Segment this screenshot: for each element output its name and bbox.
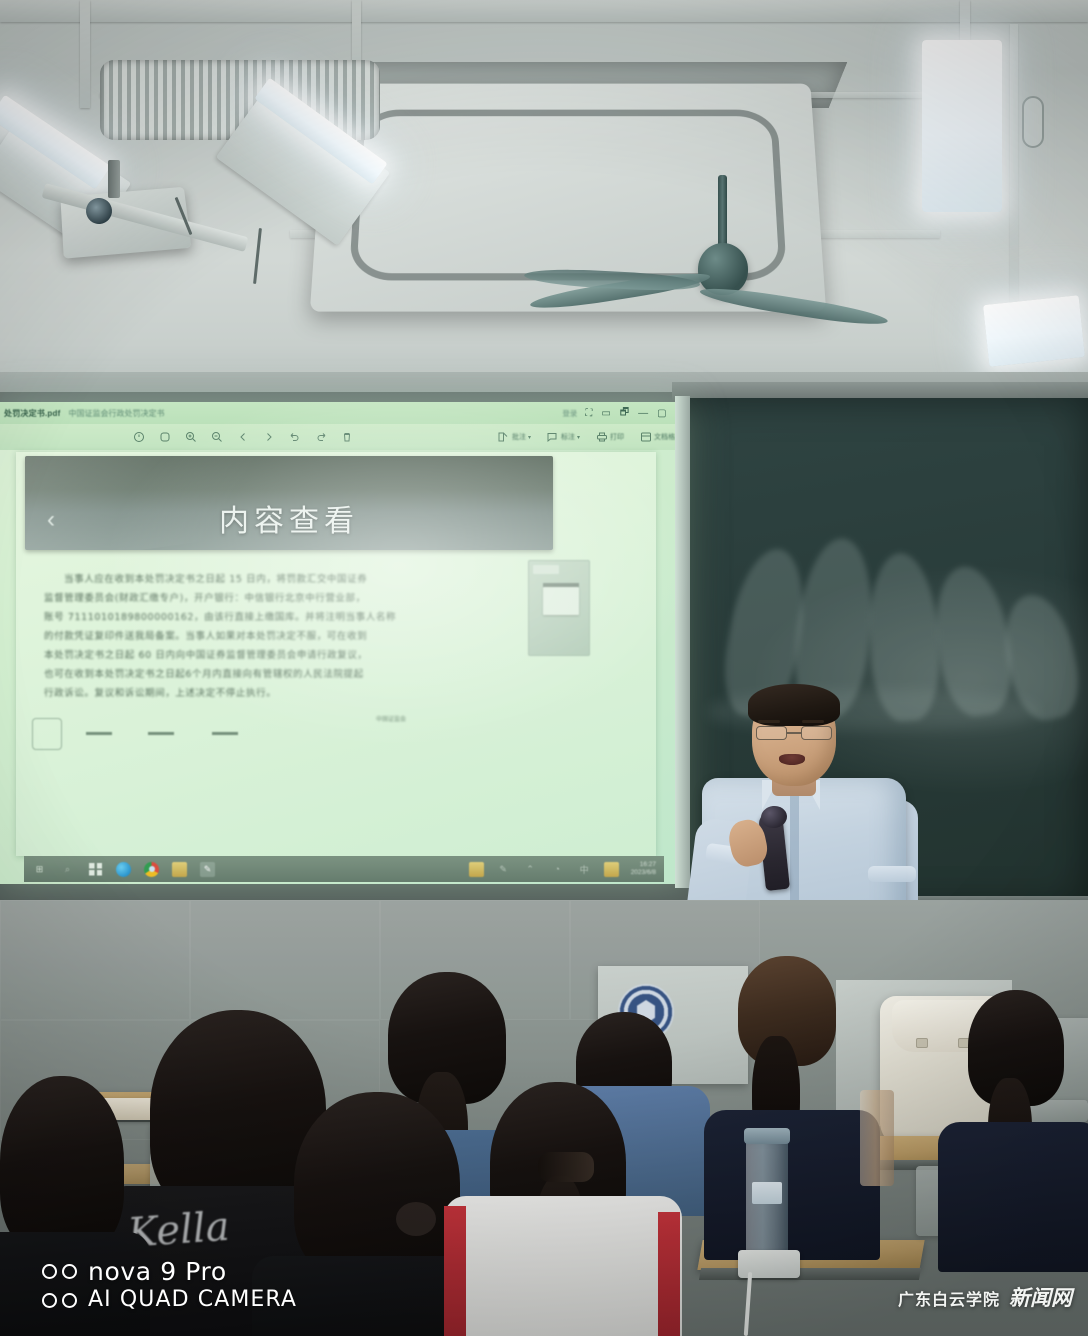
hand-tool-icon[interactable] (158, 431, 171, 444)
layout-icon[interactable]: ▭ (601, 408, 610, 419)
print-button[interactable]: 打印 (595, 431, 624, 444)
print-label: 打印 (610, 432, 624, 442)
pdf-tab-alt-title[interactable]: 中国证监会行政处罚决定书 (68, 408, 164, 419)
pdf-tool-group-left (132, 431, 353, 444)
system-tray: ✎ ⌃ ◔ 中 16:27 2023/6/8 (469, 861, 656, 877)
window-controls[interactable]: ⛶ ▭ 🗗 — ▢ ✕ (585, 405, 684, 422)
student-torso (704, 1110, 880, 1260)
jacket-stripe (658, 1212, 680, 1336)
clock-time: 16:27 (631, 861, 656, 869)
ceiling-fan-motor (698, 243, 748, 295)
camera-quad-dots-icon (42, 1264, 77, 1279)
pdf-app-titlebar: 处罚决定书.pdf 中国证监会行政处罚决定书 登录 ⛶ ▭ 🗗 — ▢ ✕ (0, 402, 688, 424)
zoom-in-icon[interactable] (184, 431, 197, 444)
minimize-icon[interactable]: — (638, 408, 648, 419)
fullscreen-icon[interactable]: ⛶ (585, 408, 592, 419)
fan-rod (718, 175, 727, 249)
edge-browser-icon[interactable] (116, 862, 131, 877)
rotate-left-icon[interactable] (288, 431, 301, 444)
bottle-sticker (752, 1182, 782, 1204)
doc-line: 行政诉讼。复议和诉讼期间，上述决定不停止执行。 (44, 684, 482, 703)
pdf-tool-group-right: 批注 ▾ 标注 ▾ 打印 (497, 431, 682, 444)
printer-icon (595, 431, 608, 444)
speaker-mouth (779, 754, 805, 765)
start-button-icon[interactable]: ⊞ (32, 862, 47, 877)
camera-quad-dots-icon-2 (42, 1293, 77, 1308)
previous-page-icon[interactable] (236, 431, 249, 444)
pdf-reader-icon[interactable]: ✎ (200, 862, 215, 877)
tray-volume-icon[interactable]: ◔ (550, 862, 565, 877)
screen-right-edge (675, 396, 690, 888)
jacket-stripe (444, 1206, 466, 1336)
phone-outline-mockup (32, 718, 62, 750)
hair-clip (396, 1202, 436, 1236)
camera-model-label: nova 9 Pro (88, 1257, 227, 1288)
comment-label: 标注 (561, 432, 575, 442)
slide-title: 内容查看 (25, 496, 553, 540)
comment-button[interactable]: 标注 ▾ (546, 431, 580, 444)
back-chevron-icon[interactable]: ‹ (47, 506, 55, 534)
classroom-lecture-photo: 处罚决定书.pdf 中国证监会行政处罚决定书 登录 ⛶ ▭ 🗗 — ▢ ✕ (0, 0, 1088, 1336)
student-hair (0, 1076, 124, 1254)
document-format-icon (639, 431, 652, 444)
pdf-tab-name[interactable]: 处罚决定书.pdf (4, 408, 60, 419)
camera-watermark: nova 9 Pro AI QUAD CAMERA (42, 1257, 297, 1314)
maximize-icon[interactable]: ▢ (657, 408, 666, 419)
annotate-button[interactable]: 批注 ▾ (497, 431, 531, 444)
document-signature: 中国证监会 (376, 714, 406, 723)
annotate-icon (497, 431, 510, 444)
pdf-page: ‹ 内容查看 当事人应在收到本处罚决定书之日起 15 日内，将罚款汇交中国证券 … (16, 452, 656, 856)
chevron-down-icon[interactable]: ▾ (528, 434, 531, 441)
doc-line: 本处罚决定书之日起 60 日内向中国证券监督管理委员会申请行政复议， (44, 646, 482, 665)
student-torso (938, 1122, 1088, 1272)
chrome-browser-icon[interactable] (144, 862, 159, 877)
doc-line: 监督管理委员会(财政汇缴专户)，开户银行：中信银行北京中行营业部， (44, 589, 482, 608)
search-icon[interactable]: ⌕ (60, 862, 75, 877)
tray-battery-icon[interactable] (604, 862, 619, 877)
zoom-out-icon[interactable] (210, 431, 223, 444)
annotate-label: 批注 (512, 432, 526, 442)
doc-line: 账号 7111010189800000162，由该行直接上缴国库。并将注明当事人… (44, 608, 482, 627)
hair-scrunchie (538, 1152, 594, 1182)
doc-line: 的付款凭证复印件送我局备案。当事人如果对本处罚决定不服，可在收到 (44, 627, 482, 646)
tray-network-icon[interactable]: ⌃ (523, 862, 538, 877)
delete-icon[interactable] (340, 431, 353, 444)
account-login-label[interactable]: 登录 (562, 408, 577, 419)
news-outlet-label: 新闻网 (1009, 1282, 1072, 1312)
projection-screen: 处罚决定书.pdf 中国证监会行政处罚决定书 登录 ⛶ ▭ 🗗 — ▢ ✕ (0, 402, 688, 884)
document-text-block: 当事人应在收到本处罚决定书之日起 15 日内，将罚款汇交中国证券 监督管理委员会… (44, 570, 482, 703)
slide-header-banner: ‹ 内容查看 (25, 456, 553, 550)
bottle-cap (744, 1128, 790, 1144)
camera-tagline-label: AI QUAD CAMERA (88, 1287, 297, 1314)
ceiling (0, 0, 1088, 392)
taskbar-clock[interactable]: 16:27 2023/6/8 (631, 861, 656, 877)
pdf-app-toolbar: 批注 ▾ 标注 ▾ 打印 (0, 424, 688, 450)
restore-down-icon[interactable]: 🗗 (620, 405, 629, 422)
fluorescent-tube-light (922, 40, 1002, 212)
school-name-label: 广东白云学院 (898, 1286, 1000, 1310)
tray-note-icon[interactable] (469, 862, 484, 877)
eyebrow (758, 720, 780, 723)
rotate-right-icon[interactable] (314, 431, 327, 444)
eyeglasses (754, 726, 834, 740)
doc-line: 当事人应在收到本处罚决定书之日起 15 日内，将罚款汇交中国证券 (44, 570, 482, 589)
eyebrow (802, 720, 824, 723)
select-tool-icon[interactable] (132, 431, 145, 444)
dialog-screenshot-thumbnail (528, 560, 590, 656)
publisher-watermark: 广东白云学院 新闻网 (898, 1282, 1072, 1312)
amber-drink-bottle (860, 1090, 894, 1186)
doc-line: 也可在收到本处罚决定书之日起6个月内直接向有管辖权的人民法院提起 (44, 665, 482, 684)
student-hair (294, 1092, 460, 1282)
comment-icon (546, 431, 559, 444)
file-explorer-icon[interactable] (172, 862, 187, 877)
tray-pen-icon[interactable]: ✎ (496, 862, 511, 877)
student-torso (444, 1196, 682, 1336)
clock-date: 2023/6/8 (631, 869, 656, 877)
chevron-down-icon[interactable]: ▾ (577, 434, 580, 441)
projector-mount (108, 160, 120, 198)
windows-taskbar: ⊞ ⌕ ✎ ✎ ⌃ ◔ 中 16:27 2023/6/8 (24, 856, 664, 882)
next-page-icon[interactable] (262, 431, 275, 444)
speaker-sleeve-fold (868, 866, 916, 882)
task-view-icon[interactable] (88, 862, 103, 877)
fluorescent-tube-light (983, 295, 1085, 367)
ac-louver (1022, 96, 1044, 148)
tray-ime-icon[interactable]: 中 (577, 862, 592, 877)
